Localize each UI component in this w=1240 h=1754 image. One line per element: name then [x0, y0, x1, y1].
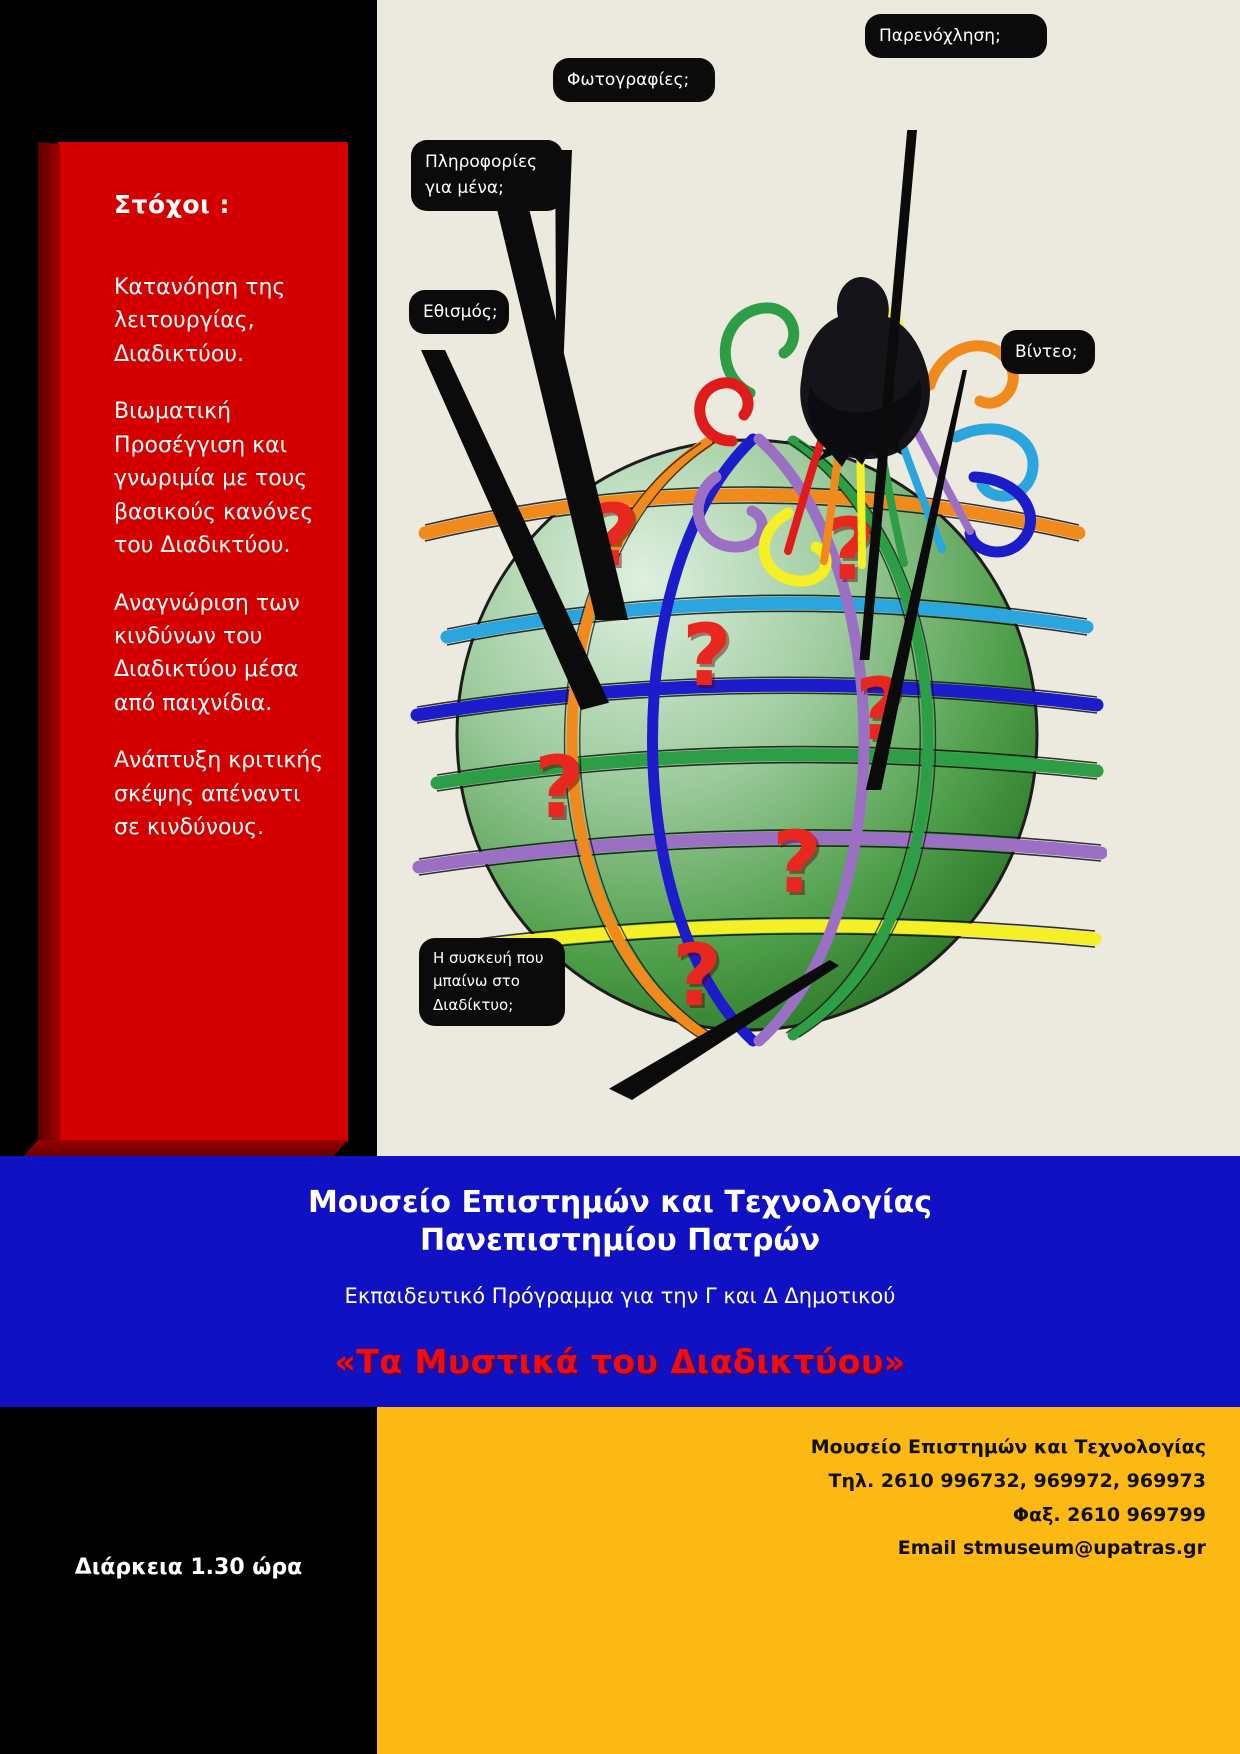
contact-email[interactable]: Email stmuseum@upatras.gr [811, 1532, 1206, 1566]
museum-title-line1: Μουσείο Επιστημών και Τεχνολογίας [0, 1184, 1240, 1222]
bubble-photos[interactable]: Φωτογραφίες; [553, 58, 715, 102]
goal-item: Αναγνώριση των κινδύνων του Διαδικτύου μ… [114, 587, 326, 721]
question-mark: ? [772, 820, 822, 906]
goal-item: Βιωματική Προσέγγιση και γνωριμία με του… [114, 395, 326, 562]
museum-banner: Μουσείο Επιστημών και Τεχνολογίας Πανεπι… [0, 1156, 1240, 1407]
contact-panel: Μουσείο Επιστημών και Τεχνολογίας Τηλ. 2… [377, 1407, 1240, 1754]
goals-panel: Στόχοι : Κατανόηση της λειτουργίας, Διαδ… [58, 142, 348, 1142]
bubble-video[interactable]: Βίντεο; [1001, 330, 1095, 374]
poster-root: ? ? ? ? ? ? ? [0, 0, 1240, 1754]
museum-title-line2: Πανεπιστημίου Πατρών [0, 1222, 1240, 1260]
duration-panel: Διάρκεια 1.30 ώρα [0, 1407, 377, 1754]
program-subtitle: Εκπαιδευτικό Πρόγραμμα για την Γ και Δ Δ… [0, 1284, 1240, 1308]
contact-phone: Τηλ. 2610 996732, 969972, 969973 [811, 1465, 1206, 1499]
goal-item: Κατανόηση της λειτουργίας, Διαδικτύου. [114, 271, 326, 371]
question-mark: ? [682, 613, 732, 699]
contact-details: Μουσείο Επιστημών και Τεχνολογίας Τηλ. 2… [811, 1431, 1206, 1566]
program-title: «Τα Μυστικά του Διαδικτύου» [0, 1342, 1240, 1381]
bubble-addiction[interactable]: Εθισμός; [409, 290, 509, 334]
goals-title: Στόχοι : [114, 190, 326, 219]
bubble-info[interactable]: Πληροφορίες για μένα; [411, 140, 563, 211]
question-mark: ? [534, 745, 584, 831]
illustration-panel: ? ? ? ? ? ? ? [377, 0, 1240, 1156]
contact-fax: Φαξ. 2610 969799 [811, 1499, 1206, 1533]
contact-name: Μουσείο Επιστημών και Τεχνολογίας [811, 1431, 1206, 1465]
goal-item: Ανάπτυξη κριτικής σκέψης απέναντι σε κιν… [114, 744, 326, 844]
museum-title: Μουσείο Επιστημών και Τεχνολογίας Πανεπι… [0, 1184, 1240, 1261]
bubble-device[interactable]: Η συσκευή που μπαίνω στο Διαδίκτυο; [419, 938, 565, 1026]
bubble-harassment[interactable]: Παρενόχληση; [865, 14, 1047, 58]
duration-text: Διάρκεια 1.30 ώρα [0, 1555, 377, 1580]
question-mark: ? [672, 933, 722, 1019]
